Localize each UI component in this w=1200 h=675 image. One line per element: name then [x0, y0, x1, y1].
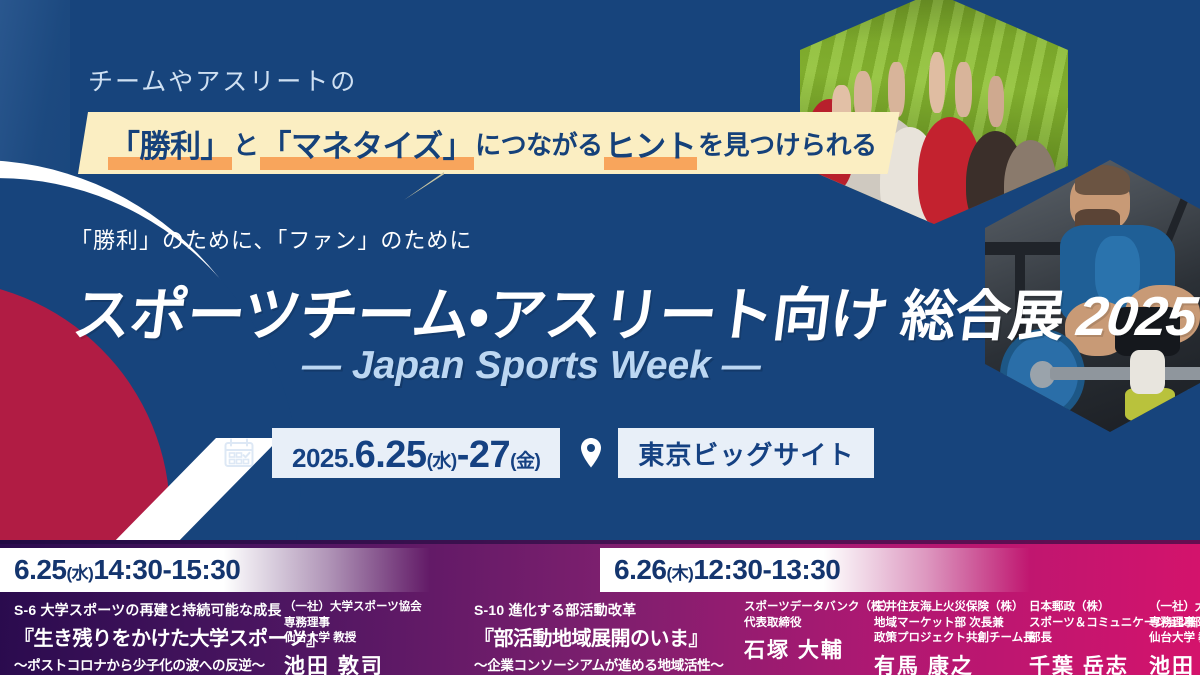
title-main-part1: スポーツチーム・アスリート向け — [69, 283, 891, 348]
speaker-org-line3: 部長 — [1029, 631, 1137, 647]
session-1-theme: 大学スポーツの再建と持続可能な成長 — [40, 602, 281, 618]
speaker-card: スポーツデータバンク（株） 代表取締役 石塚 大輔 — [744, 600, 874, 675]
session-block-1: S-6 大学スポーツの再建と持続可能な成長 『生き残りをかけた大学スポーツ』 〜… — [14, 600, 404, 675]
session-2-text: S-10 進化する部活動改革 『部活動地域展開のいま』 〜企業コンソーシアムが進… — [474, 600, 744, 675]
weekday-start: (水) — [427, 446, 457, 473]
calendar-check-icon — [222, 436, 256, 470]
hero-kicker: チームやアスリートの — [88, 62, 357, 98]
highlight-banner: 「勝利」と「マネタイズ」につながるヒントを見つけられる — [78, 112, 900, 174]
speaker-org-line1: 三井住友海上火災保険（株） — [874, 600, 1017, 616]
session-block-2: S-10 進化する部活動改革 『部活動地域展開のいま』 〜企業コンソーシアムが進… — [474, 600, 1200, 675]
session-1-time: 6.25(水)14:30-15:30 — [14, 554, 240, 586]
date-month: 6 — [355, 436, 376, 474]
session-1-speakers: （一社）大学スポーツ協会 専務理事 仙台大学 教授 池田 敦司 — [284, 600, 404, 675]
session-2-hours: 12:30-13:30 — [693, 554, 840, 585]
speaker-org-line2: 専務理事 — [1149, 616, 1200, 632]
session-2-subtitle: 〜企業コンソーシアムが進める地域活性〜 — [474, 654, 744, 674]
title-year: 2025 — [1074, 285, 1200, 347]
weekday-end: (金) — [510, 446, 540, 473]
session-2-title: 『部活動地域展開のいま』 — [474, 622, 744, 651]
location-pin-icon — [578, 437, 604, 469]
promo-banner: チームやアスリートの 「勝利」と「マネタイズ」につながるヒントを見つけられる 「… — [0, 0, 1200, 675]
speaker-name: 千葉 岳志 — [1029, 650, 1137, 675]
speaker-org-line2: 代表取締役 — [744, 616, 862, 632]
speaker-card: 日本郵政（株） スポーツ＆コミュニケーション部 部長 千葉 岳志 — [1029, 600, 1149, 675]
speaker-org-line1: 日本郵政（株） — [1029, 600, 1137, 616]
session-1-code: S-6 — [14, 602, 36, 618]
speaker-name: 池田 敦司 — [284, 650, 392, 675]
speaker-card: 三井住友海上火災保険（株） 地域マーケット部 次長兼 政策プロジェクト共創チーム… — [874, 600, 1029, 675]
hero-section: チームやアスリートの 「勝利」と「マネタイズ」につながるヒントを見つけられる 「… — [0, 0, 1200, 540]
speaker-org-line1: （一社）大学スポーツ協会 — [284, 600, 392, 616]
speaker-org-line3: 仙台大学 教授 — [284, 631, 392, 647]
session-1-text: S-6 大学スポーツの再建と持続可能な成長 『生き残りをかけた大学スポーツ』 〜… — [14, 600, 284, 675]
session-2-speakers: スポーツデータバンク（株） 代表取締役 石塚 大輔 三井住友海上火災保険（株） … — [744, 600, 1200, 675]
highlight-text: 「勝利」と「マネタイズ」につながるヒントを見つけられる — [108, 121, 878, 166]
session-time-strip-2: 6.26(木)12:30-13:30 — [600, 548, 1030, 592]
speaker-org-line1: スポーツデータバンク（株） — [744, 600, 862, 616]
session-2-weekday: (木) — [667, 564, 694, 583]
session-1-subtitle: 〜ポストコロナから少子化の波への反逆〜 — [14, 654, 284, 674]
date-day-end: 27 — [469, 436, 510, 474]
event-info-bar: 2025.6.25(水)-27(金) 東京ビッグサイト — [222, 428, 874, 478]
page-title: スポーツチーム・アスリート向け 総合展 2025 — [69, 268, 1200, 352]
event-date-chip: 2025.6.25(水)-27(金) — [272, 428, 560, 478]
session-time-strip-1: 6.25(水)14:30-15:30 — [0, 548, 430, 592]
speaker-card: （一社）大学スポーツ協会 専務理事 仙台大学 教授 池田 敦司 — [284, 600, 404, 675]
speaker-org-line2: スポーツ＆コミュニケーション部 — [1029, 616, 1137, 632]
session-1-date: 6.25 — [14, 554, 67, 585]
session-1-code-theme: S-6 大学スポーツの再建と持続可能な成長 — [14, 600, 284, 620]
session-2-code: S-10 — [474, 602, 504, 618]
highlight-seg-monetize: 「マネタイズ」 — [260, 121, 475, 166]
highlight-seg-hint: ヒント — [604, 121, 698, 166]
highlight-seg-victory: 「勝利」 — [108, 121, 232, 166]
speaker-card: （一社）大学スポーツ協会 専務理事 仙台大学 教授 池田 敦司 — [1149, 600, 1200, 675]
speaker-org-line2: 地域マーケット部 次長兼 — [874, 616, 1017, 632]
session-1-title: 『生き残りをかけた大学スポーツ』 — [14, 622, 284, 651]
highlight-seg-find: を見つけられる — [697, 125, 878, 162]
date-year: 2025. — [292, 443, 355, 474]
date-separator: . — [375, 436, 385, 474]
highlight-seg-connect: につながる — [474, 125, 604, 162]
session-2-time: 6.26(木)12:30-13:30 — [614, 554, 840, 586]
title-english: — Japan Sports Week — — [302, 344, 761, 388]
session-2-theme: 進化する部活動改革 — [508, 602, 636, 618]
footer-divider — [0, 540, 1200, 544]
session-1-weekday: (水) — [67, 564, 94, 583]
speaker-org-line3: 政策プロジェクト共創チーム長 — [874, 631, 1017, 647]
session-2-date: 6.26 — [614, 554, 667, 585]
speaker-org-line2: 専務理事 — [284, 616, 392, 632]
title-sub-lead: 「勝利」のために、「ファン」のために — [70, 223, 472, 255]
title-main-part2: 総合展 — [898, 285, 1068, 347]
session-2-code-theme: S-10 進化する部活動改革 — [474, 600, 744, 620]
session-footer: 6.25(水)14:30-15:30 6.26(木)12:30-13:30 S-… — [0, 540, 1200, 675]
date-range-dash: - — [457, 436, 469, 474]
speaker-name: 有馬 康之 — [874, 650, 1017, 675]
session-1-hours: 14:30-15:30 — [93, 554, 240, 585]
speaker-name: 池田 敦司 — [1149, 650, 1200, 675]
speaker-org-line1: （一社）大学スポーツ協会 — [1149, 600, 1200, 616]
date-day-start: 25 — [385, 436, 426, 474]
speaker-name: 石塚 大輔 — [744, 634, 862, 664]
speech-bubble-tail — [404, 172, 444, 200]
highlight-seg-and: と — [232, 125, 260, 162]
speaker-org-line3: 仙台大学 教授 — [1149, 631, 1200, 647]
event-venue-chip: 東京ビッグサイト — [618, 428, 874, 478]
